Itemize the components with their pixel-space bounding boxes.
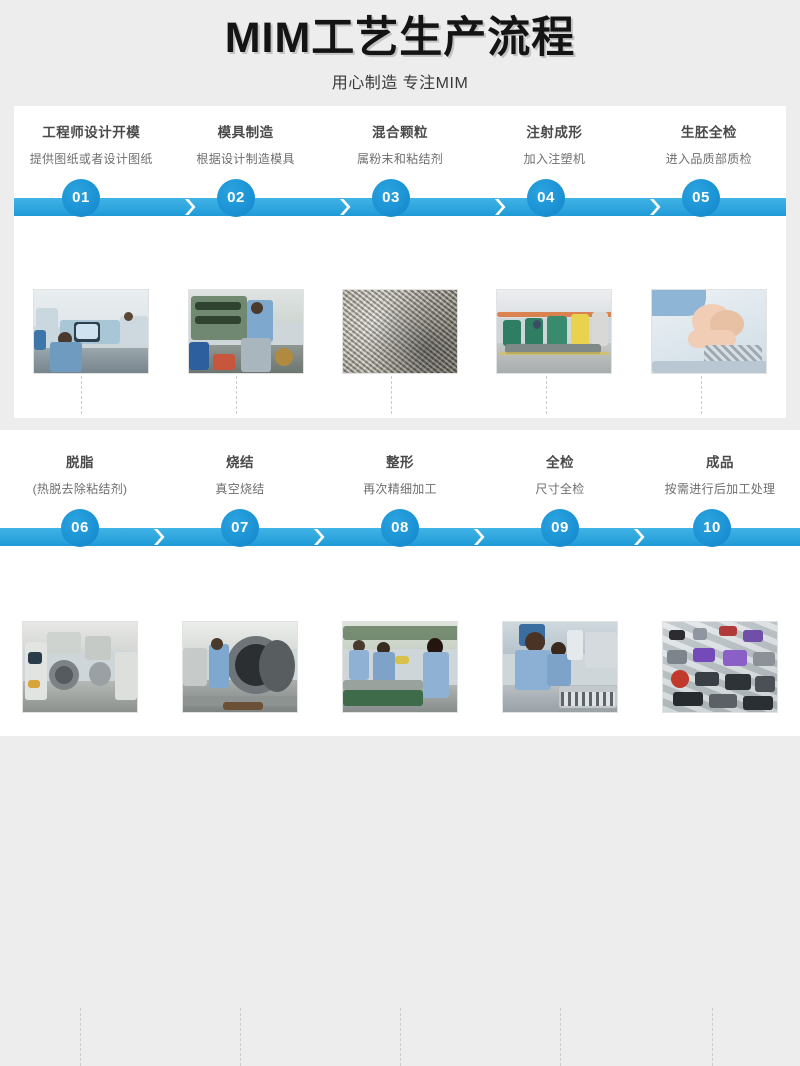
process-row-2: 脱脂 (热脱去除粘结剂) 烧结 真空烧结 整形 再次精细加工 全检 尺寸全检 成… [0,430,800,736]
process-row-1: 工程师设计开模 提供图纸或者设计图纸 模具制造 根据设计制造模具 混合颗粒 属粉… [14,106,786,418]
step-title: 生胚全检 [632,124,786,142]
step-title: 整形 [320,454,480,472]
step-desc: (热脱去除粘结剂) [0,481,160,497]
chevron-right-icon [313,528,327,546]
connector-line [80,1008,81,1066]
green-part-inspection-hands-photo [651,289,767,374]
row-2-photos [0,605,800,713]
step-title: 工程师设计开模 [14,124,168,142]
chevron-right-icon [184,198,198,216]
row-1-labels: 工程师设计开模 提供图纸或者设计图纸 模具制造 根据设计制造模具 混合颗粒 属粉… [14,106,786,167]
step-label-10: 成品 按需进行后加工处理 [640,454,800,497]
step-badge-05[interactable]: 05 [682,179,720,217]
step-desc: 按需进行后加工处理 [640,481,800,497]
chevron-right-icon [649,198,663,216]
mold-machining-workshop-photo [188,289,304,374]
metal-feedstock-granules-photo [342,289,458,374]
row-2-timeline: 06 07 08 09 10 [0,509,800,565]
row-1-timeline: 01 02 03 04 05 [14,179,786,235]
step-label-04: 注射成形 加入注塑机 [477,124,631,167]
finished-parts-tray-photo [662,621,778,713]
step-badge-06[interactable]: 06 [61,509,99,547]
chevron-right-icon [494,198,508,216]
dimensional-inspection-photo [502,621,618,713]
step-badge-07[interactable]: 07 [221,509,259,547]
step-badge-10[interactable]: 10 [693,509,731,547]
step-title: 脱脂 [0,454,160,472]
chevron-right-icon [153,528,167,546]
step-title: 混合颗粒 [323,124,477,142]
step-title: 模具制造 [168,124,322,142]
chevron-right-icon [473,528,487,546]
step-badge-08[interactable]: 08 [381,509,419,547]
page-title: MIM工艺生产流程 [0,12,800,64]
step-desc: 真空烧结 [160,481,320,497]
step-desc: 加入注塑机 [477,151,631,167]
engineer-cad-workstation-photo [33,289,149,374]
step-badge-09[interactable]: 09 [541,509,579,547]
connector-line [560,1008,561,1066]
chevron-right-icon [339,198,353,216]
page-subtitle: 用心制造 专注MIM [0,74,800,94]
page-header: MIM工艺生产流程 用心制造 专注MIM [0,0,800,94]
step-label-03: 混合颗粒 属粉末和粘结剂 [323,124,477,167]
step-desc: 再次精细加工 [320,481,480,497]
connector-line [240,1008,241,1066]
step-badge-03[interactable]: 03 [372,179,410,217]
vacuum-sintering-furnace-photo [182,621,298,713]
step-badge-01[interactable]: 01 [62,179,100,217]
step-title: 烧结 [160,454,320,472]
row-2-labels: 脱脂 (热脱去除粘结剂) 烧结 真空烧结 整形 再次精细加工 全检 尺寸全检 成… [0,430,800,497]
step-label-05: 生胚全检 进入品质部质检 [632,124,786,167]
injection-molding-machines-photo [496,289,612,374]
step-label-08: 整形 再次精细加工 [320,454,480,497]
step-title: 成品 [640,454,800,472]
chevron-right-icon [633,528,647,546]
row-1-photos [14,275,786,374]
connector-line [712,1008,713,1066]
step-label-01: 工程师设计开模 提供图纸或者设计图纸 [14,124,168,167]
step-label-09: 全检 尺寸全检 [480,454,640,497]
step-desc: 尺寸全检 [480,481,640,497]
step-desc: 进入品质部质检 [632,151,786,167]
step-label-02: 模具制造 根据设计制造模具 [168,124,322,167]
sizing-workbench-photo [342,621,458,713]
step-desc: 属粉末和粘结剂 [323,151,477,167]
debinding-furnaces-photo [22,621,138,713]
step-desc: 提供图纸或者设计图纸 [14,151,168,167]
step-label-06: 脱脂 (热脱去除粘结剂) [0,454,160,497]
step-title: 全检 [480,454,640,472]
row-2-connectors [0,1008,800,1066]
step-badge-02[interactable]: 02 [217,179,255,217]
step-desc: 根据设计制造模具 [168,151,322,167]
step-badge-04[interactable]: 04 [527,179,565,217]
connector-line [400,1008,401,1066]
step-label-07: 烧结 真空烧结 [160,454,320,497]
step-title: 注射成形 [477,124,631,142]
